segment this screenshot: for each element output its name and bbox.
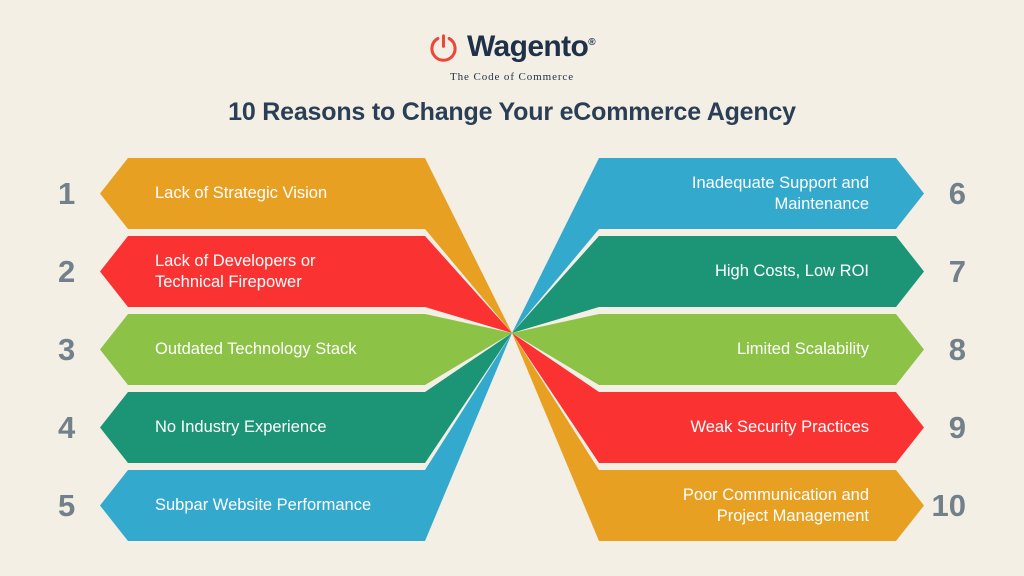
funnel-bar-number: 5: [58, 470, 102, 541]
funnel-bar-number: 8: [906, 314, 966, 385]
funnel-bar-number: 10: [906, 470, 966, 541]
left-funnel-shapes: [100, 158, 512, 541]
funnel-bar-right-8: [512, 314, 924, 385]
right-funnel-shapes: [512, 158, 924, 541]
funnel-svg: [0, 0, 1024, 576]
funnel-bar-number: 1: [58, 158, 102, 229]
funnel-bar-number: 9: [906, 392, 966, 463]
funnel-bar-number: 3: [58, 314, 102, 385]
infographic-canvas: Wagento® The Code of Commerce 10 Reasons…: [0, 0, 1024, 576]
funnel-bar-left-3: [100, 314, 512, 385]
funnel-bar-number: 6: [906, 158, 966, 229]
funnel-bar-number: 2: [58, 236, 102, 307]
funnel-bar-number: 4: [58, 392, 102, 463]
funnel-diagram: [0, 0, 1024, 576]
funnel-bar-number: 7: [906, 236, 966, 307]
